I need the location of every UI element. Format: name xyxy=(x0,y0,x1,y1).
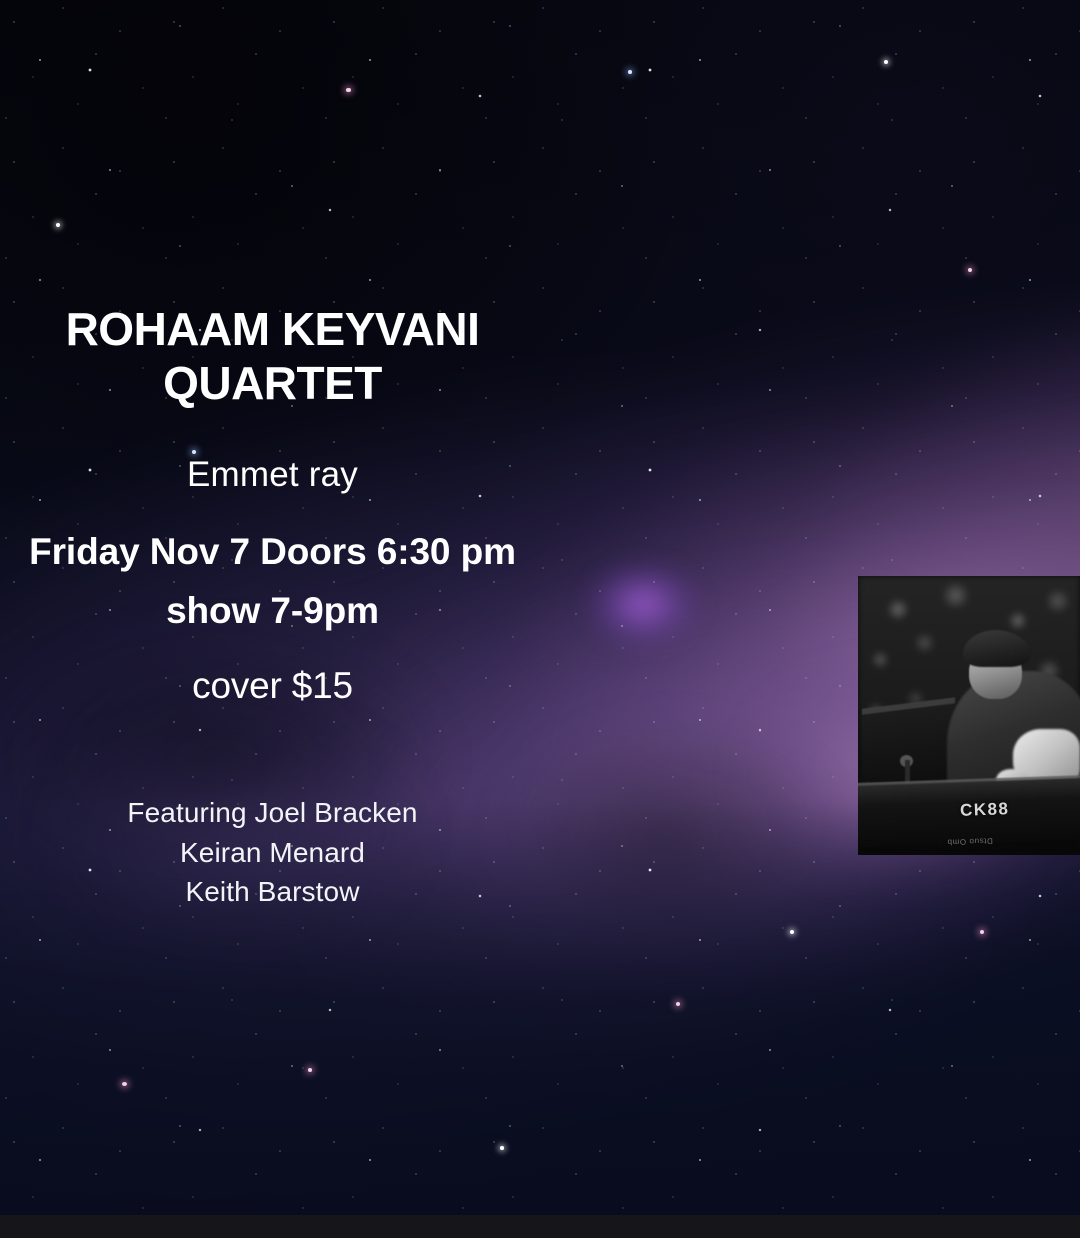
featuring-line-1: Featuring Joel Bracken xyxy=(0,793,545,833)
bright-star xyxy=(968,268,972,272)
featuring-line-2: Keiran Menard xyxy=(0,833,545,873)
bright-star xyxy=(500,1146,504,1150)
bright-star xyxy=(308,1068,312,1072)
bright-star xyxy=(884,60,888,64)
performer-photo: CK88 Dtsuo Omb xyxy=(858,576,1080,855)
headline-line-1: ROHAAM KEYVANI xyxy=(16,302,529,356)
event-datetime: Friday Nov 7 Doors 6:30 pm show 7-9pm xyxy=(0,522,545,640)
featuring-line-3: Keith Barstow xyxy=(0,872,545,912)
flyer-text-block: ROHAAM KEYVANI QUARTET Emmet ray Friday … xyxy=(0,0,545,912)
keyboard-model-label: CK88 xyxy=(960,799,1010,821)
cover-charge: cover $15 xyxy=(0,663,545,709)
bright-star xyxy=(980,930,984,934)
bright-star xyxy=(676,1002,680,1006)
featuring-list: Featuring Joel Bracken Keiran Menard Kei… xyxy=(0,793,545,912)
bright-star xyxy=(628,70,632,74)
event-flyer: ROHAAM KEYVANI QUARTET Emmet ray Friday … xyxy=(0,0,1080,1238)
bottom-bar xyxy=(0,1215,1080,1238)
keyboard-brand-label: Dtsuo Omb xyxy=(947,836,993,847)
venue-name: Emmet ray xyxy=(0,453,545,497)
headline-line-2: QUARTET xyxy=(16,356,529,410)
bright-star xyxy=(790,930,794,934)
page-title: ROHAAM KEYVANI QUARTET xyxy=(0,302,545,411)
bright-star xyxy=(122,1082,127,1086)
